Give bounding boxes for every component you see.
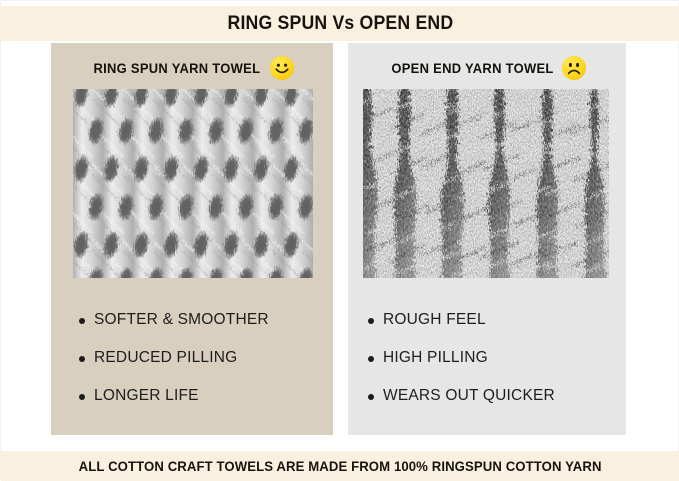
bullet-label: LONGER LIFE [94,387,199,405]
texture-image-ring-spun [73,89,313,278]
list-item: HIGH PILLING [348,349,626,387]
bullet-dot-icon [79,356,85,362]
texture-image-open-end [363,89,609,278]
bullet-dot-icon [368,356,374,362]
bullet-label: REDUCED PILLING [94,349,237,367]
list-item: SOFTER & SMOOTHER [51,311,333,349]
footer-band: ALL COTTON CRAFT TOWELS ARE MADE FROM 10… [1,451,679,481]
comparison-infographic: RING SPUN Vs OPEN END RING SPUN YARN TOW… [0,0,679,480]
bullet-dot-icon [79,318,85,324]
list-item: WEARS OUT QUICKER [348,387,626,425]
panel-title-open-end: OPEN END YARN TOWEL [391,61,553,76]
bullet-label: ROUGH FEEL [383,311,486,329]
panel-heading-right: OPEN END YARN TOWEL [348,53,626,83]
bullet-label: SOFTER & SMOOTHER [94,311,269,329]
happy-face-icon [270,56,294,80]
bullet-dot-icon [79,394,85,400]
page-title: RING SPUN Vs OPEN END [228,13,454,35]
panel-title-ring-spun: RING SPUN YARN TOWEL [94,61,261,76]
panel-ring-spun: RING SPUN YARN TOWEL [51,43,333,435]
drawbacks-list-open-end: ROUGH FEEL HIGH PILLING WEARS OUT QUICKE… [348,311,626,425]
benefits-list-ring-spun: SOFTER & SMOOTHER REDUCED PILLING LONGER… [51,311,333,425]
title-band: RING SPUN Vs OPEN END [1,6,679,41]
bullet-label: WEARS OUT QUICKER [383,387,555,405]
list-item: LONGER LIFE [51,387,333,425]
list-item: REDUCED PILLING [51,349,333,387]
sad-face-icon [562,56,586,80]
panel-heading-left: RING SPUN YARN TOWEL [51,53,333,83]
bullet-label: HIGH PILLING [383,349,488,367]
panel-open-end: OPEN END YARN TOWEL [348,43,626,435]
list-item: ROUGH FEEL [348,311,626,349]
bullet-dot-icon [368,318,374,324]
footer-message: ALL COTTON CRAFT TOWELS ARE MADE FROM 10… [79,458,602,474]
bullet-dot-icon [368,394,374,400]
